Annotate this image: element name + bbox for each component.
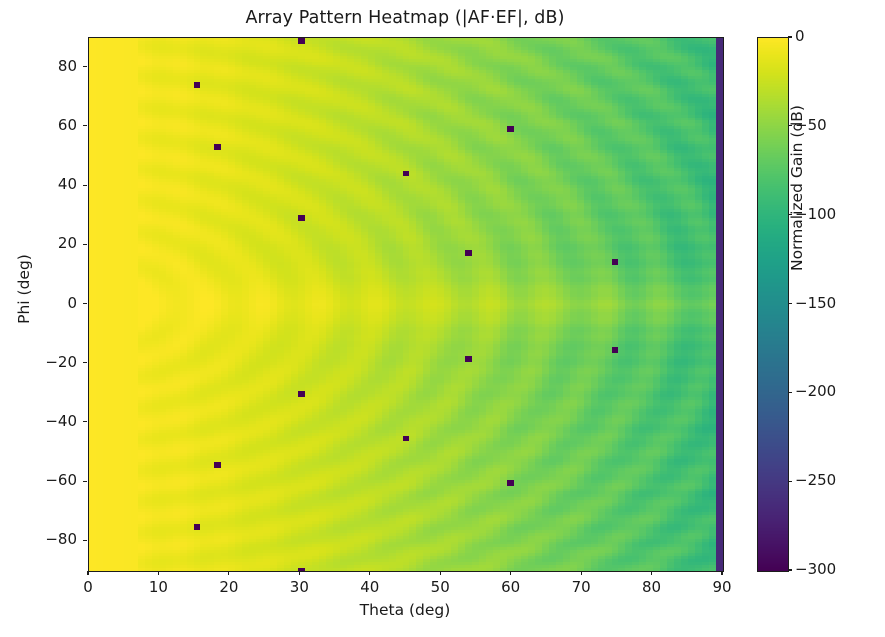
colorbar-tick-0 — [788, 36, 792, 37]
y-ticklabel: −40 — [21, 412, 77, 430]
y-ticklabel: 40 — [21, 175, 77, 193]
y-tick--40 — [83, 421, 87, 422]
x-tick-80 — [651, 571, 652, 575]
x-ticklabel: 20 — [197, 578, 261, 596]
x-tick-60 — [510, 571, 511, 575]
x-tick-90 — [721, 571, 722, 575]
colorbar-ticklabel: −250 — [795, 471, 836, 489]
x-tick-0 — [87, 571, 88, 575]
x-tick-40 — [369, 571, 370, 575]
y-tick-60 — [83, 125, 87, 126]
colorbar-gradient — [758, 38, 788, 571]
y-tick-40 — [83, 185, 87, 186]
x-axis-label: Theta (deg) — [88, 601, 722, 619]
y-ticklabel: 60 — [21, 116, 77, 134]
colorbar — [757, 37, 789, 572]
x-ticklabel: 50 — [408, 578, 472, 596]
y-ticklabel: 80 — [21, 57, 77, 75]
x-tick-30 — [299, 571, 300, 575]
y-tick--60 — [83, 481, 87, 482]
x-ticklabel: 0 — [56, 578, 120, 596]
x-tick-20 — [228, 571, 229, 575]
x-ticklabel: 60 — [479, 578, 543, 596]
x-ticklabel: 80 — [620, 578, 684, 596]
x-tick-50 — [440, 571, 441, 575]
matplotlib-figure: Array Pattern Heatmap (|AF·EF|, dB) 0102… — [0, 0, 885, 637]
y-tick-0 — [83, 303, 87, 304]
x-ticklabel: 70 — [549, 578, 613, 596]
y-axis-label: Phi (deg) — [15, 219, 33, 359]
colorbar-ticklabel: −300 — [795, 560, 836, 578]
colorbar-ticklabel: −200 — [795, 382, 836, 400]
y-tick--80 — [83, 540, 87, 541]
x-tick-10 — [158, 571, 159, 575]
y-ticklabel: −60 — [21, 471, 77, 489]
x-ticklabel: 90 — [690, 578, 754, 596]
colorbar-tick-5 — [788, 481, 792, 482]
x-ticklabel: 30 — [267, 578, 331, 596]
colorbar-tick-4 — [788, 392, 792, 393]
y-ticklabel: −80 — [21, 530, 77, 548]
x-tick-70 — [581, 571, 582, 575]
colorbar-ticklabel: 0 — [795, 27, 805, 45]
colorbar-label: Normalized Gain (dB) — [788, 73, 806, 303]
chart-title: Array Pattern Heatmap (|AF·EF|, dB) — [88, 8, 722, 28]
heatmap-image — [89, 38, 723, 571]
colorbar-tick-3 — [788, 303, 792, 304]
heatmap-axes — [88, 37, 724, 572]
y-tick--20 — [83, 362, 87, 363]
colorbar-tick-6 — [788, 569, 792, 570]
y-tick-20 — [83, 244, 87, 245]
x-ticklabel: 40 — [338, 578, 402, 596]
y-tick-80 — [83, 66, 87, 67]
x-ticklabel: 10 — [126, 578, 190, 596]
